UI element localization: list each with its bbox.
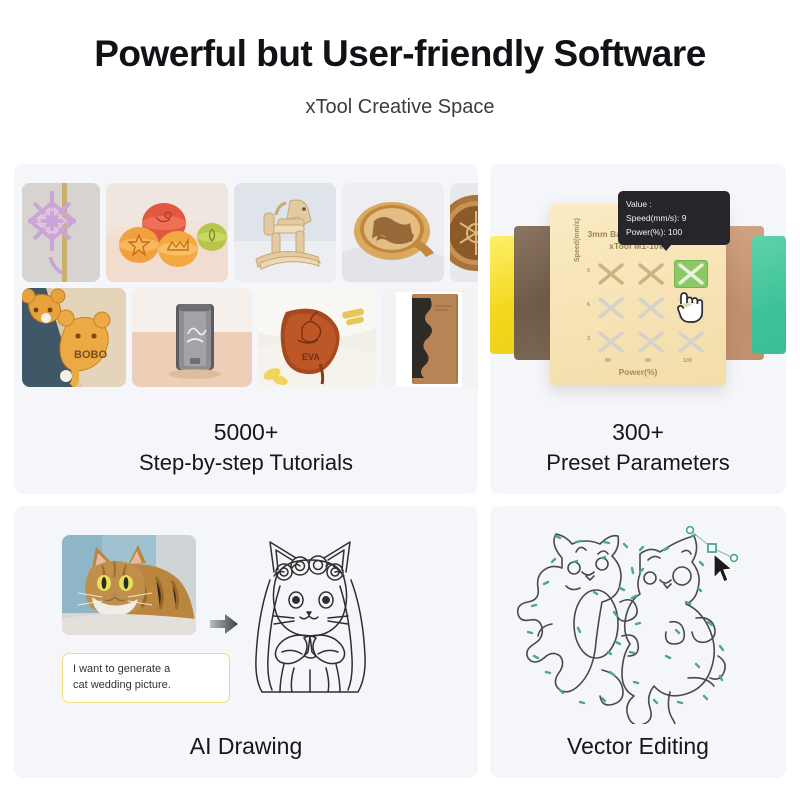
parameter-tooltip: Value : Speed(mm/s): 9 Power(%): 100 (618, 191, 730, 245)
matrix-cell-s6-p80[interactable] (594, 294, 628, 322)
presets-label: Preset Parameters (490, 448, 786, 478)
caption-tutorials: 5000+ Step-by-step Tutorials (14, 417, 478, 478)
thumbnail-row-1 (22, 183, 478, 282)
tooltip-power: Power(%): 100 (626, 225, 722, 239)
thumbnail-engraved-wooden-coaster[interactable] (450, 183, 478, 282)
thumbnail-row-2: BOBO (22, 288, 478, 387)
thumbnail-wooden-rocking-horse-model[interactable] (234, 183, 336, 282)
source-cat-photo (62, 535, 196, 635)
tutorials-count: 5000+ (14, 417, 478, 448)
caption-presets: 300+ Preset Parameters (490, 417, 786, 478)
ai-prompt-line-1: I want to generate a (73, 662, 219, 678)
thumbnail-wooden-bowl-with-engraved-map[interactable] (342, 183, 444, 282)
vector-editing-illustration (490, 506, 786, 724)
x-tick-80: 80 (605, 358, 611, 364)
page-title: Powerful but User-friendly Software (0, 34, 800, 75)
ai-drawing-illustration: I want to generate a cat wedding picture… (14, 506, 478, 726)
arrow-cursor-icon (714, 554, 732, 582)
promo-page: Powerful but User-friendly Software xToo… (0, 0, 800, 800)
transform-arrow-icon (210, 614, 238, 639)
feature-card-grid: BOBO (14, 164, 786, 778)
x-tick-100: 100 (683, 358, 692, 364)
vector-editing-label: Vector Editing (490, 732, 786, 762)
presets-count: 300+ (490, 417, 786, 448)
tooltip-speed: Speed(mm/s): 9 (626, 211, 722, 225)
thumbnail-engraved-macarons[interactable] (106, 183, 228, 282)
hand-cursor-icon (674, 290, 704, 329)
card-vector-editing[interactable]: Vector Editing (490, 506, 786, 778)
matrix-cell-s3-p100[interactable] (674, 328, 708, 356)
y-tick-9: 9 (587, 268, 590, 274)
axis-label-power: Power(%) (550, 367, 726, 377)
card-ai-drawing[interactable]: I want to generate a cat wedding picture… (14, 506, 478, 778)
axis-label-speed: Speed(mm/s) (574, 218, 581, 262)
matrix-cell-s9-p100-selected[interactable] (674, 260, 708, 288)
page-header: Powerful but User-friendly Software xToo… (0, 0, 800, 118)
material-swatch-mint-acrylic (752, 236, 786, 354)
caption-vector-editing: Vector Editing (490, 732, 786, 762)
x-tick-90: 90 (645, 358, 651, 364)
thumbnail-purple-acrylic-snowflake-ornament[interactable] (22, 183, 100, 282)
svg-text:BOBO: BOBO (74, 349, 107, 361)
y-tick-6: 6 (587, 302, 590, 308)
y-tick-3: 3 (587, 336, 590, 342)
ai-generated-cat-bride-sketch (240, 528, 380, 708)
matrix-cell-s9-p90[interactable] (634, 260, 668, 288)
svg-text:EVA: EVA (302, 352, 320, 362)
caption-ai-drawing: AI Drawing (14, 732, 478, 762)
thumbnail-engraved-wooden-map-card[interactable] (382, 288, 478, 387)
card-tutorials[interactable]: BOBO (14, 164, 478, 494)
thumbnail-dog-shaped-wooden-pet-tag-bobo[interactable]: BOBO (22, 288, 126, 387)
ai-drawing-label: AI Drawing (14, 732, 478, 762)
ai-prompt-line-2: cat wedding picture. (73, 678, 219, 694)
page-subtitle: xTool Creative Space (0, 96, 800, 118)
thumbnail-engraved-metal-lighter-case[interactable] (132, 288, 252, 387)
thumbnail-engraved-leather-pouch-eva[interactable]: EVA (258, 288, 376, 387)
matrix-cell-s3-p80[interactable] (594, 328, 628, 356)
preset-illustration: 3mm Basswoodplywood xTool M1-10W Speed(m… (490, 164, 786, 416)
tutorials-label: Step-by-step Tutorials (14, 448, 478, 478)
matrix-cell-s3-p90[interactable] (634, 328, 668, 356)
ai-prompt-box[interactable]: I want to generate a cat wedding picture… (62, 653, 230, 703)
card-preset-parameters[interactable]: 3mm Basswoodplywood xTool M1-10W Speed(m… (490, 164, 786, 494)
matrix-cell-s6-p90[interactable] (634, 294, 668, 322)
matrix-cell-s9-p80[interactable] (594, 260, 628, 288)
tutorial-thumbnail-gallery: BOBO (14, 183, 478, 388)
tooltip-title: Value : (626, 197, 722, 211)
